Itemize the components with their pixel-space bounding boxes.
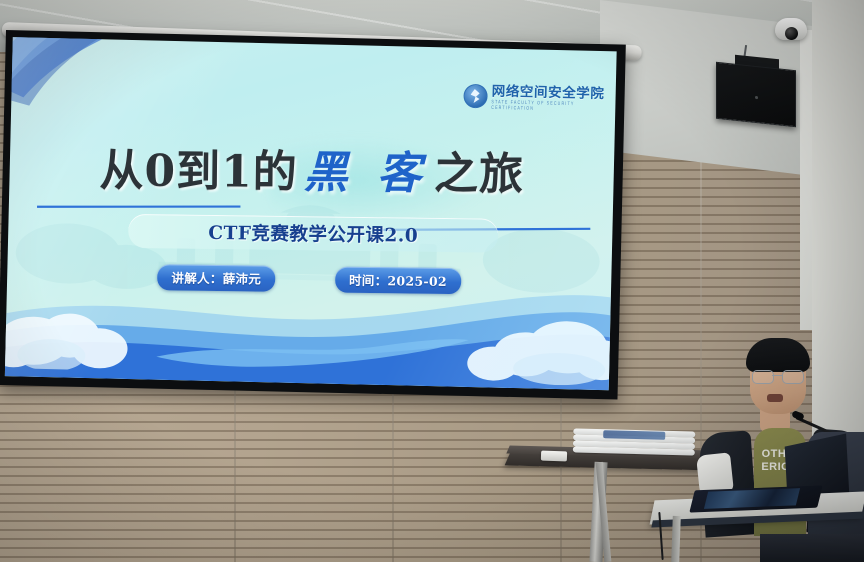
presentation-remote: [541, 451, 567, 462]
slide-subtitle-banner: CTF竞赛教学公开课2.0: [128, 214, 498, 253]
ribbon-swoosh-decoration: [5, 37, 225, 114]
front-desk-leg: [671, 516, 681, 562]
office-chair-seat: [760, 534, 864, 562]
presenter-badge: 讲解人：薛沛元: [157, 264, 275, 292]
projector-screen: 网络空间安全学院 STATE FACULTY OF SECURITY CERTI…: [0, 30, 626, 400]
packaged-items-stack: [573, 428, 696, 459]
glasses-icon: [750, 370, 806, 382]
presentation-slide: 网络空间安全学院 STATE FACULTY OF SECURITY CERTI…: [5, 37, 617, 390]
date-badge-label: 时间：2025-02: [349, 273, 447, 289]
logo-name-en: STATE FACULTY OF SECURITY CERTIFICATION: [491, 101, 615, 114]
institution-logo: 网络空间安全学院 STATE FACULTY OF SECURITY CERTI…: [463, 84, 616, 112]
presenter-badge-label: 讲解人：薛沛元: [171, 270, 261, 286]
stack-print-graphic: [603, 430, 665, 440]
camera-lens-icon: [785, 27, 798, 40]
slide-title-trail: 之旅: [434, 148, 524, 200]
cloud-decoration-right: [449, 299, 617, 387]
slide-title-lead: 从0到1的: [99, 145, 298, 198]
cloud-decoration-left: [5, 292, 151, 372]
mouth: [767, 394, 783, 402]
wall-speaker: [716, 62, 796, 127]
slide-title-highlight: 黑 客: [297, 147, 434, 199]
slide-subtitle: CTF竞赛教学公开课2.0: [208, 219, 418, 248]
lecture-hall-screenshot: 网络空间安全学院 STATE FACULTY OF SECURITY CERTI…: [0, 0, 864, 562]
slide-title: 从0到1的黑 客之旅: [10, 133, 615, 203]
date-badge: 时间：2025-02: [335, 267, 461, 295]
hair: [746, 338, 810, 372]
shield-emblem-icon: [463, 84, 488, 109]
